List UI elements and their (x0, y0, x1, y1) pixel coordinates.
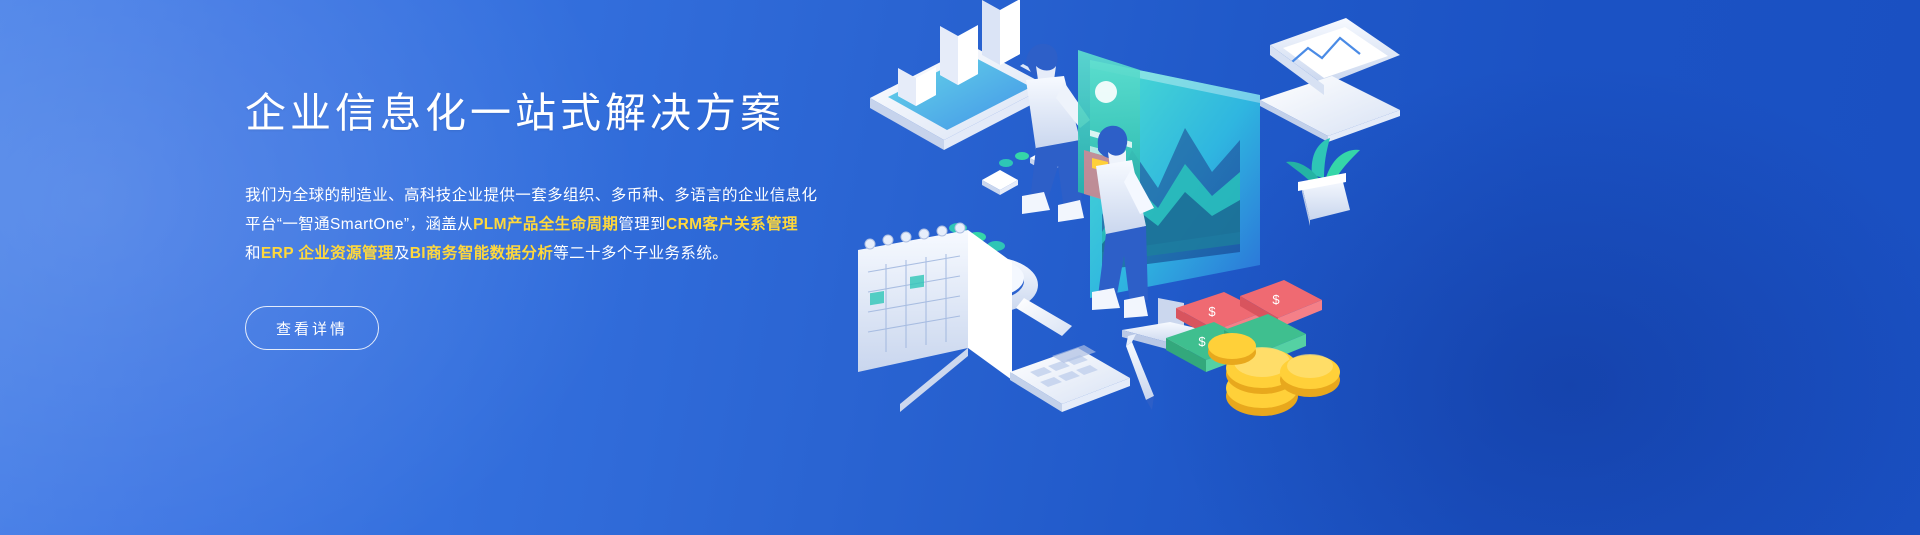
hero-copy: 企业信息化一站式解决方案 我们为全球的制造业、高科技企业提供一套多组织、多币种、… (245, 88, 945, 350)
highlight-plm: PLM产品全生命周期 (473, 216, 618, 233)
page-title: 企业信息化一站式解决方案 (245, 88, 945, 139)
hero-banner: 企业信息化一站式解决方案 我们为全球的制造业、高科技企业提供一套多组织、多币种、… (0, 0, 1920, 535)
laptop-line-chart-icon (1260, 18, 1400, 142)
description-line-3-text-b: 及 (394, 245, 410, 262)
pen-icon (1126, 334, 1154, 410)
svg-text:$: $ (1208, 304, 1216, 319)
description-line-3-text-c: 等二十多个子业务系统。 (553, 245, 728, 262)
potted-plant-icon (1286, 138, 1360, 226)
svg-text:$: $ (1198, 334, 1206, 349)
highlight-erp: ERP 企业资源管理 (261, 245, 394, 262)
description-line-2: 平台“一智通SmartOne”，涵盖从PLM产品全生命周期管理到CRM客户关系管… (245, 210, 805, 239)
svg-text:$: $ (1272, 292, 1280, 307)
description-line-3: 和ERP 企业资源管理及BI商务智能数据分析等二十多个子业务系统。 (245, 239, 805, 268)
description-line-3-text-a: 和 (245, 245, 261, 262)
highlight-crm: CRM客户关系管理 (666, 216, 798, 233)
description-line-2-text-b: 管理到 (618, 216, 666, 233)
highlight-bi: BI商务智能数据分析 (410, 245, 554, 262)
calculator-icon (1010, 345, 1130, 412)
description-line-1: 我们为全球的制造业、高科技企业提供一套多组织、多币种、多语言的企业信息化 (245, 181, 805, 210)
description-line-2-text-a: 平台“一智通SmartOne”，涵盖从 (245, 216, 473, 233)
view-details-button[interactable]: 查看详情 (245, 306, 379, 350)
hero-description: 我们为全球的制造业、高科技企业提供一套多组织、多币种、多语言的企业信息化 平台“… (245, 181, 805, 268)
